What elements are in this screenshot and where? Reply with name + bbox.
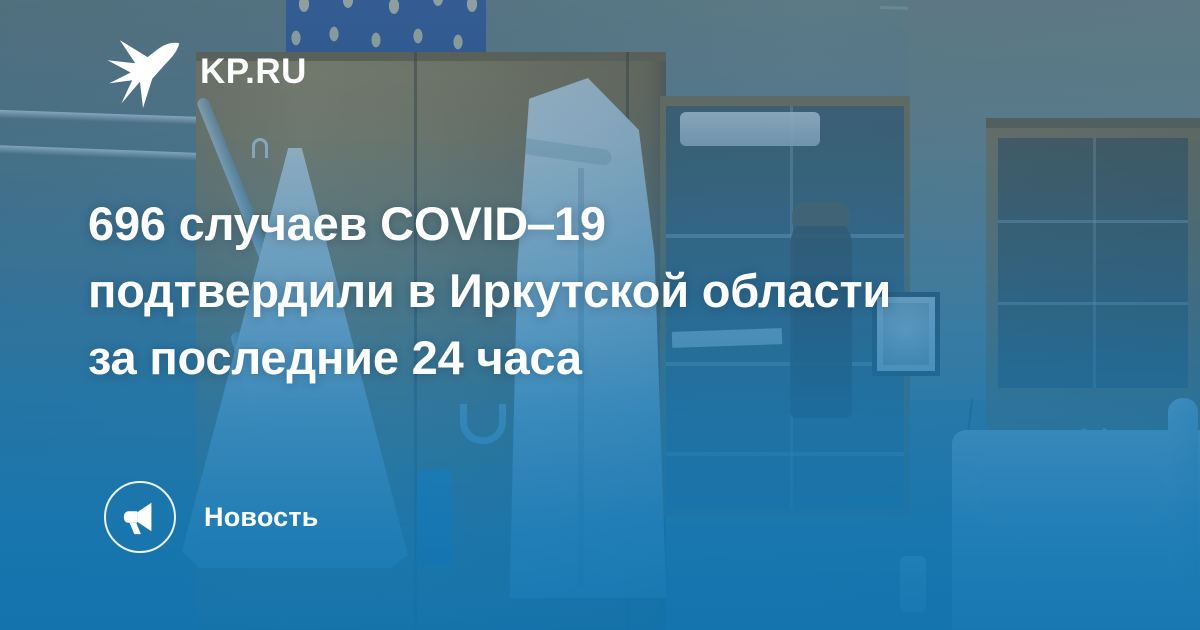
megaphone-icon xyxy=(121,498,159,536)
page-title: 696 случаев COVID‒19 подтвердили в Иркут… xyxy=(88,190,1108,392)
badge-circle xyxy=(104,481,176,553)
headline-line-3: за последние 24 часа xyxy=(88,324,1108,391)
status-badge[interactable]: Новость xyxy=(104,481,319,553)
card-content: KP.RU 696 случаев COVID‒19 подтвердили в… xyxy=(0,0,1200,630)
brand-logo[interactable]: KP.RU xyxy=(104,34,307,108)
swallow-bird-icon xyxy=(104,34,182,108)
news-share-card: KP.RU 696 случаев COVID‒19 подтвердили в… xyxy=(0,0,1200,630)
headline-line-2: подтвердили в Иркутской области xyxy=(88,257,1108,324)
brand-name: KP.RU xyxy=(200,54,307,89)
headline-line-1: 696 случаев COVID‒19 xyxy=(88,190,1108,257)
badge-label: Новость xyxy=(204,502,319,533)
